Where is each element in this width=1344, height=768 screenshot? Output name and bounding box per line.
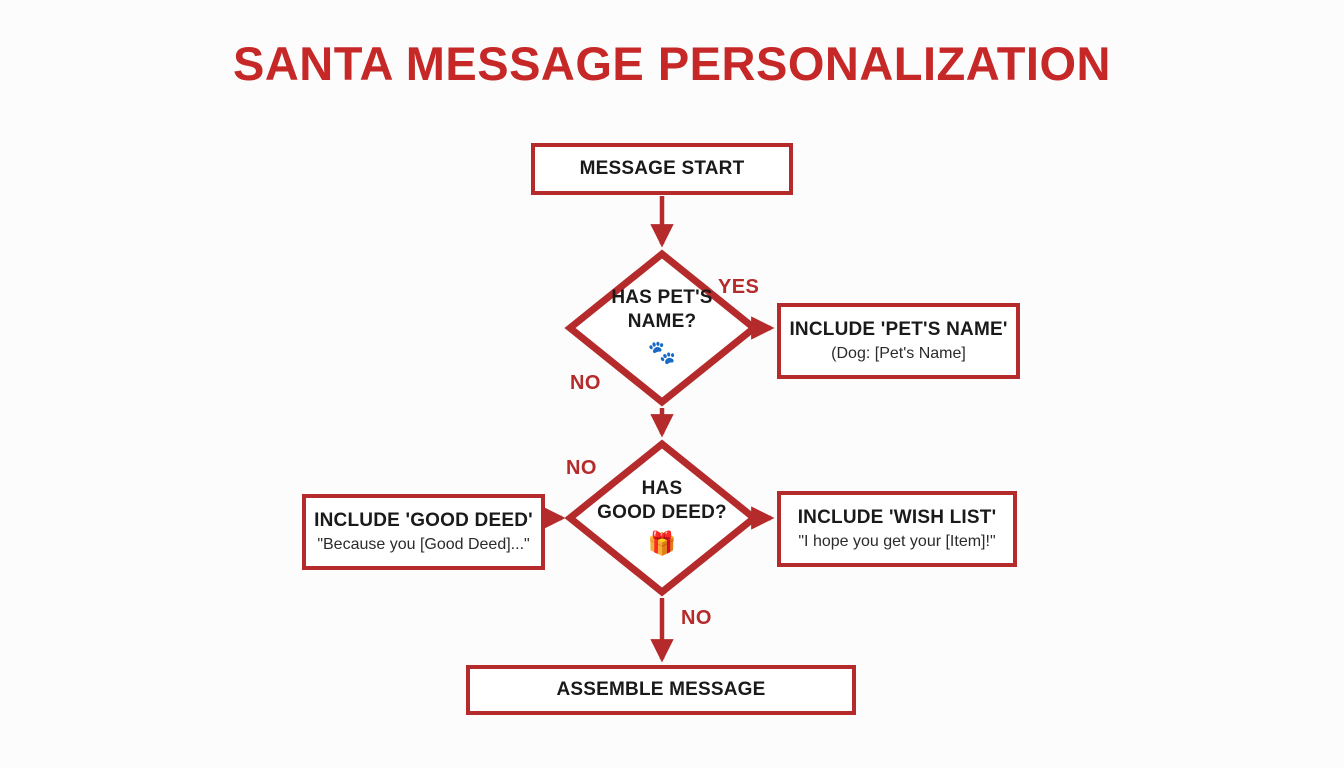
node-message-start-label: MESSAGE START (580, 158, 745, 180)
edge-label-no-good-deed-down: NO (681, 607, 712, 630)
flowchart-canvas: SANTA MESSAGE PERSONALIZATION MESSAGE ST… (0, 0, 1344, 768)
node-include-good-deed[interactable]: INCLUDE 'GOOD DEED' "Because you [Good D… (302, 494, 545, 570)
node-include-pets-name-label: INCLUDE 'PET'S NAME' (789, 319, 1007, 341)
node-assemble-message-label: ASSEMBLE MESSAGE (556, 679, 765, 701)
edge-label-yes-pet: YES (718, 276, 759, 299)
node-include-good-deed-label: INCLUDE 'GOOD DEED' (314, 510, 533, 532)
node-include-good-deed-sublabel: "Because you [Good Deed]..." (317, 535, 529, 554)
node-include-wish-list[interactable]: INCLUDE 'WISH LIST' "I hope you get your… (777, 491, 1017, 567)
page-title: SANTA MESSAGE PERSONALIZATION (0, 36, 1344, 91)
node-include-wish-list-sublabel: "I hope you get your [Item]!" (798, 532, 995, 551)
edge-label-no-pet: NO (570, 372, 601, 395)
node-assemble-message[interactable]: ASSEMBLE MESSAGE (466, 665, 856, 715)
node-include-wish-list-label: INCLUDE 'WISH LIST' (798, 507, 997, 529)
edge-label-no-good-deed-left: NO (566, 457, 597, 480)
node-include-pets-name[interactable]: INCLUDE 'PET'S NAME' (Dog: [Pet's Name] (777, 303, 1020, 379)
node-include-pets-name-sublabel: (Dog: [Pet's Name] (831, 344, 966, 363)
node-message-start[interactable]: MESSAGE START (531, 143, 793, 195)
